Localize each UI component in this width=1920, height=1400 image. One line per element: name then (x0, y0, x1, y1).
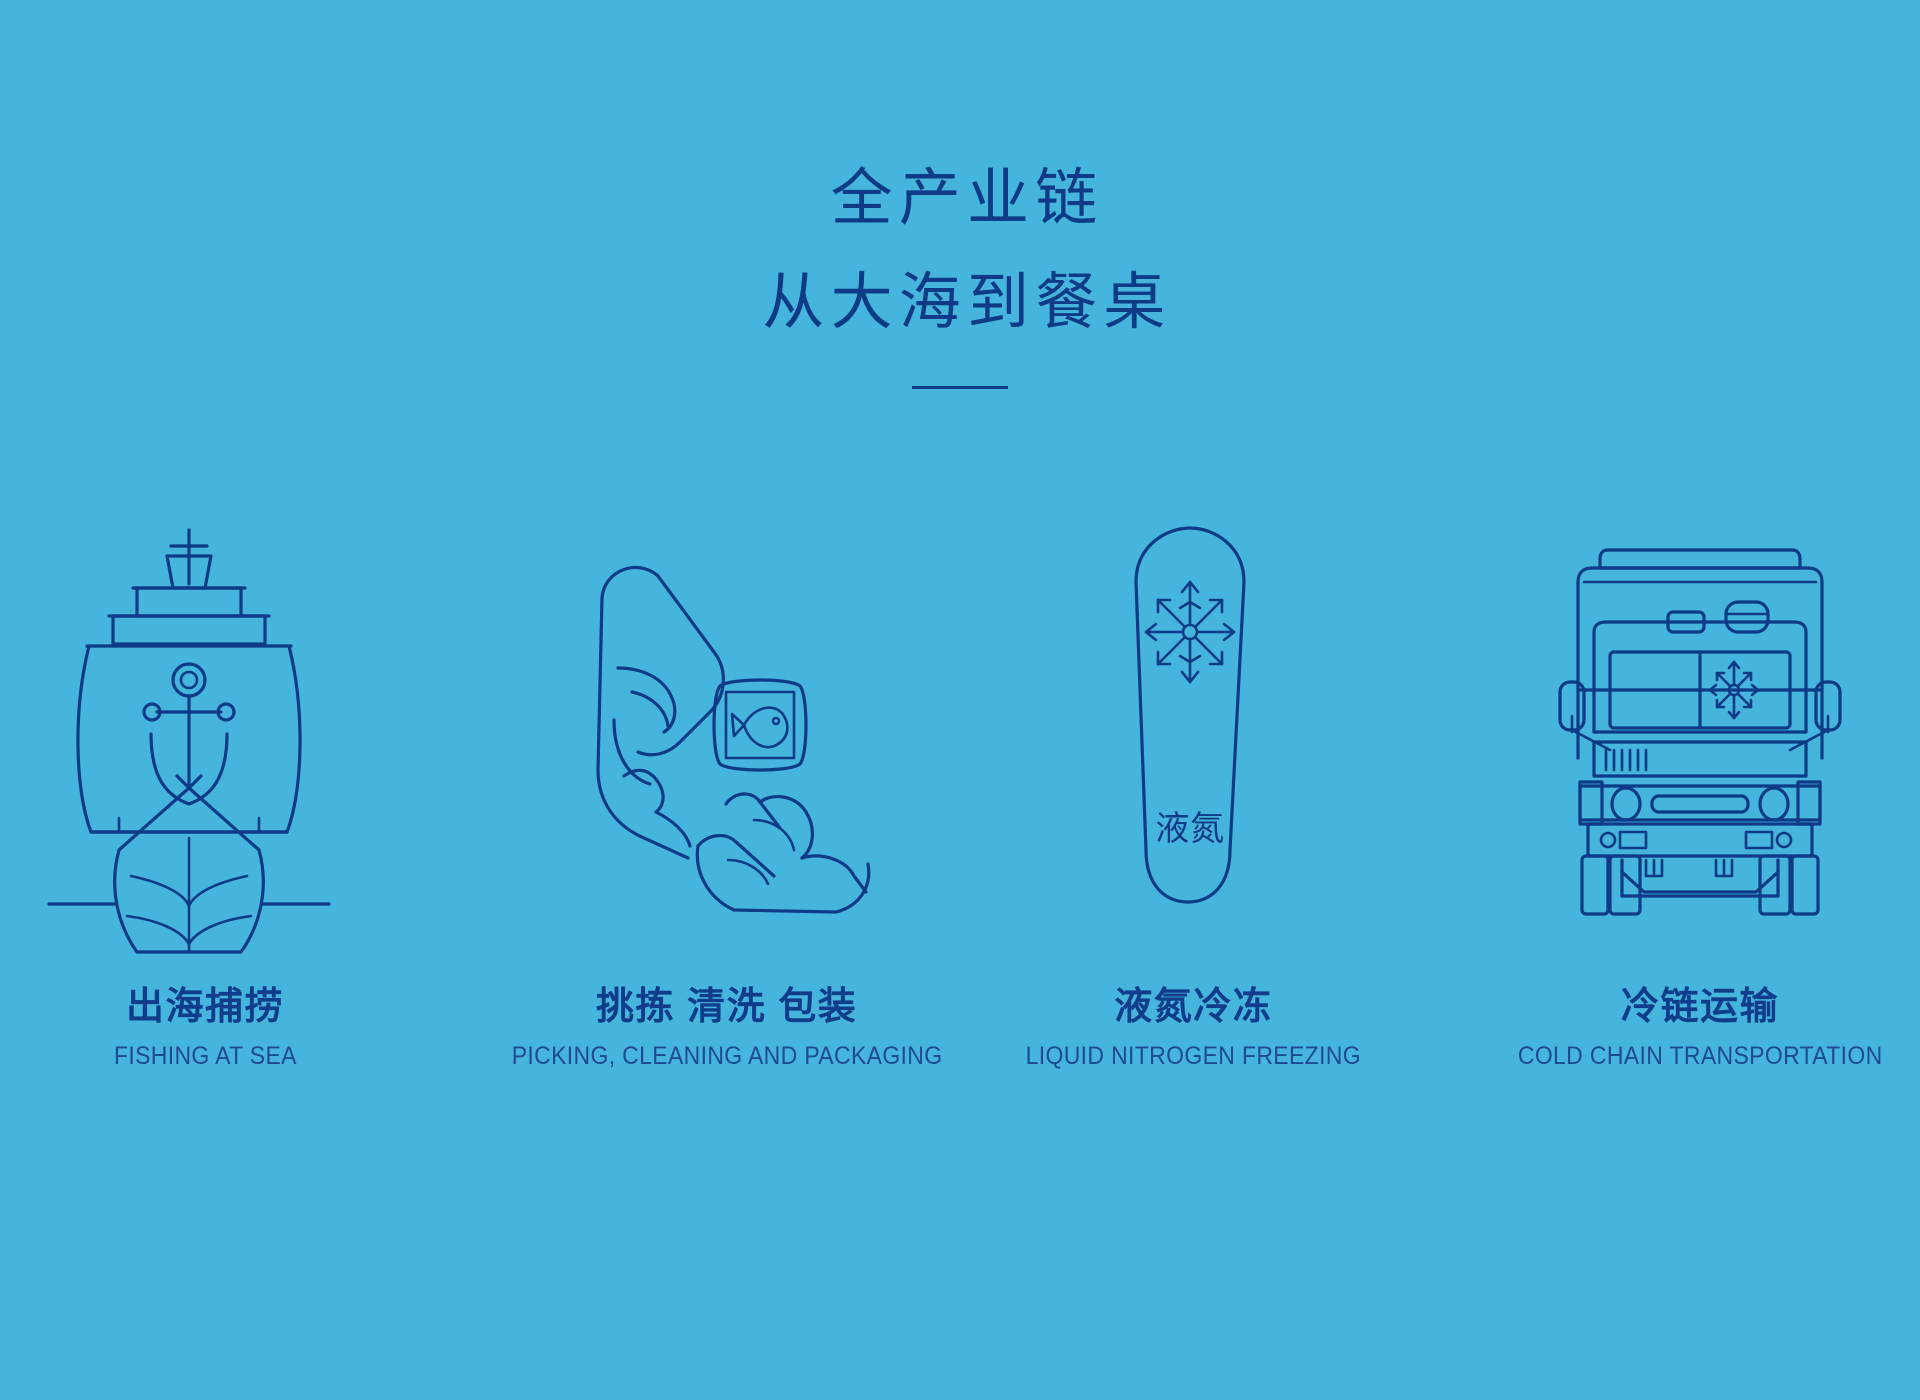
step-label-en-1: FISHING AT SEA (114, 1042, 297, 1071)
step-label-cn-3: 液氮冷冻 (1011, 986, 1376, 1030)
step-label-en-3: LIQUID NITROGEN FREEZING (1026, 1042, 1361, 1071)
step-art-4 (1550, 520, 1850, 920)
snowflake-icon (1146, 582, 1234, 682)
title-divider-wrap (0, 386, 1920, 389)
step-art-3: 液氮 (1090, 520, 1290, 920)
tank-text: 液氮 (1156, 810, 1225, 848)
page-title-line-1: 全产业链 (14, 168, 1920, 230)
step-art-1 (59, 520, 319, 920)
step-picking-cleaning-packaging[interactable]: 挑拣 清洗 包装 PICKING, CLEANING AND PACKAGING (501, 520, 953, 1071)
page-title-line-2: 从大海到餐桌 (14, 272, 1920, 334)
poster-root: 全产业链 从大海到餐桌 (0, 0, 1920, 1400)
step-labels-4: 冷链运输 COLD CHAIN TRANSPORTATION (1502, 986, 1898, 1071)
step-label-en-4: COLD CHAIN TRANSPORTATION (1518, 1042, 1883, 1071)
step-labels-1: 出海捕捞 FISHING AT SEA (106, 986, 305, 1071)
fishing-boat-icon (59, 520, 319, 920)
step-labels-3: 液氮冷冻 LIQUID NITROGEN FREEZING (1011, 986, 1376, 1071)
hands-fish-packet-icon (568, 520, 868, 920)
step-labels-2: 挑拣 清洗 包装 PICKING, CLEANING AND PACKAGING (493, 986, 961, 1071)
step-label-en-2: PICKING, CLEANING AND PACKAGING (511, 1042, 942, 1071)
step-liquid-nitrogen-freezing[interactable]: 液氮 液氮冷冻 LIQUID NITROGEN FREEZING (967, 520, 1419, 1071)
step-cold-chain-transportation[interactable]: 冷链运输 COLD CHAIN TRANSPORTATION (1434, 520, 1886, 1071)
step-label-cn-1: 出海捕捞 (106, 986, 305, 1030)
process-steps: 出海捕捞 FISHING AT SEA (0, 520, 1920, 1071)
liquid-nitrogen-tank-icon: 液氮 (1090, 520, 1290, 920)
page-header: 全产业链 从大海到餐桌 (0, 0, 1920, 389)
refrigerated-truck-icon (1550, 520, 1850, 920)
step-label-cn-4: 冷链运输 (1502, 986, 1898, 1030)
step-fishing-at-sea[interactable]: 出海捕捞 FISHING AT SEA (34, 520, 486, 1071)
step-art-2 (568, 520, 868, 920)
title-divider (912, 386, 1008, 389)
step-label-cn-2: 挑拣 清洗 包装 (493, 986, 961, 1030)
